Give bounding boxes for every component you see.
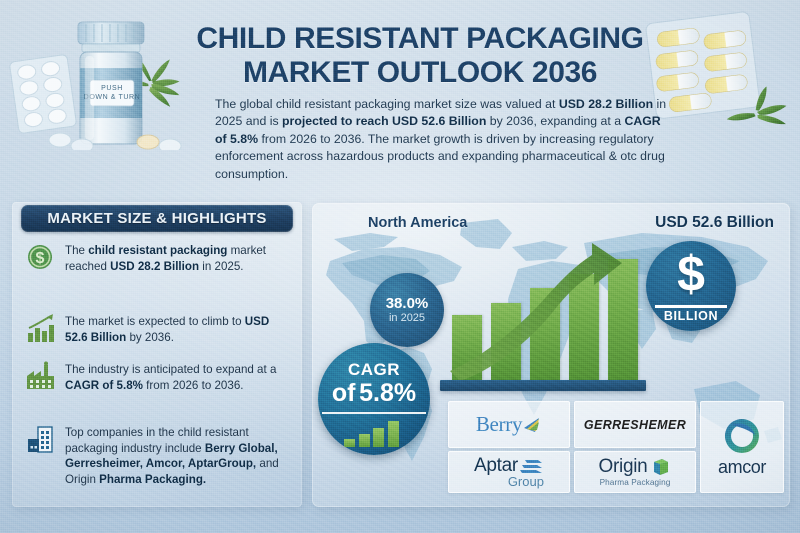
growth-bar-chart-icon (26, 313, 56, 343)
office-building-icon (26, 424, 56, 454)
highlight-item: Top companies in the child resistant pac… (26, 424, 294, 487)
origin-logo[interactable]: Origin Pharma Packaging (574, 451, 696, 493)
cagr-mini-bars (344, 421, 399, 447)
region-label: North America (368, 215, 467, 231)
header-section: PUSH DOWN & TURN (0, 0, 800, 196)
highlight-text: The industry is anticipated to expand at… (65, 361, 294, 393)
cagr-divider (322, 412, 426, 414)
market-size-highlights-panel: MARKET SIZE & HIGHLIGHTS $ The child res… (12, 202, 302, 507)
origin-logo-text: Origin (599, 457, 648, 478)
chart-baseline (440, 380, 646, 391)
panel-header-label: MARKET SIZE & HIGHLIGHTS (47, 210, 266, 227)
origin-logo-subtext: Pharma Packaging (600, 478, 671, 487)
forecast-value-label: USD 52.6 Billion (655, 214, 774, 232)
billion-divider (655, 305, 727, 308)
cagr-label: CAGR (318, 360, 430, 380)
header-paragraph: The global child resistant packaging mar… (215, 96, 675, 183)
highlight-text: Top companies in the child resistant pac… (65, 424, 294, 487)
berry-logo-text: Berry (476, 412, 522, 437)
region-share-year: in 2025 (389, 312, 425, 325)
amcor-mark-icon (722, 417, 762, 455)
dollar-coin-icon: $ (26, 242, 56, 272)
gerresheimer-logo[interactable]: GERRESHEMER (574, 401, 696, 448)
aptargroup-logo[interactable]: Aptar Group (448, 451, 570, 493)
title-line-2: MARKET OUTLOOK 2036 (160, 56, 680, 90)
page-title: CHILD RESISTANT PACKAGING MARKET OUTLOOK… (160, 22, 680, 90)
highlight-item: $ The child resistant packaging market r… (26, 242, 294, 274)
berry-mark-icon (522, 416, 542, 434)
infographic-canvas: PUSH DOWN & TURN (0, 0, 800, 533)
panel-header-banner: MARKET SIZE & HIGHLIGHTS (21, 205, 293, 232)
highlight-text: The market is expected to climb to USD 5… (65, 313, 294, 345)
blister-pack-left (9, 54, 76, 133)
cagr-value: 5.8% (359, 379, 416, 407)
region-share-badge: 38.0% in 2025 (370, 273, 444, 347)
svg-text:$: $ (36, 250, 45, 267)
highlight-item: The industry is anticipated to expand at… (26, 361, 294, 393)
billion-label: BILLION (646, 309, 736, 323)
gerresheimer-logo-text: GERRESHEMER (584, 418, 686, 432)
highlight-item: The market is expected to climb to USD 5… (26, 313, 294, 345)
aptar-logo-text: Aptar (474, 456, 518, 475)
origin-mark-icon (651, 457, 671, 477)
cagr-value-row: of 5.8% (318, 379, 430, 408)
market-chart-panel: North America USD 52.6 Billion 38.0% in … (312, 203, 790, 507)
amcor-logo-text: amcor (718, 457, 766, 478)
growth-bar-chart (444, 243, 642, 391)
child-resistant-bottle: PUSH DOWN & TURN (78, 22, 144, 144)
title-line-1: CHILD RESISTANT PACKAGING (160, 22, 680, 56)
cagr-badge: CAGR of 5.8% (318, 343, 430, 455)
dollar-sign-icon: $ (646, 245, 736, 303)
cagr-of-label: of (332, 379, 356, 407)
aptar-logo-subtext: Group (508, 475, 544, 488)
aptar-mark-icon (520, 458, 544, 475)
bottle-label-push: PUSH (101, 85, 123, 92)
amcor-logo[interactable]: amcor (700, 401, 784, 493)
highlight-text: The child resistant packaging market rea… (65, 242, 294, 274)
growth-arrow-icon (442, 231, 648, 381)
company-logos: Berry GERRESHEMER (448, 399, 784, 499)
factory-icon (26, 361, 56, 391)
berry-logo[interactable]: Berry (448, 401, 570, 448)
region-share-value: 38.0% (386, 296, 429, 312)
billion-badge: $ BILLION (646, 241, 736, 331)
